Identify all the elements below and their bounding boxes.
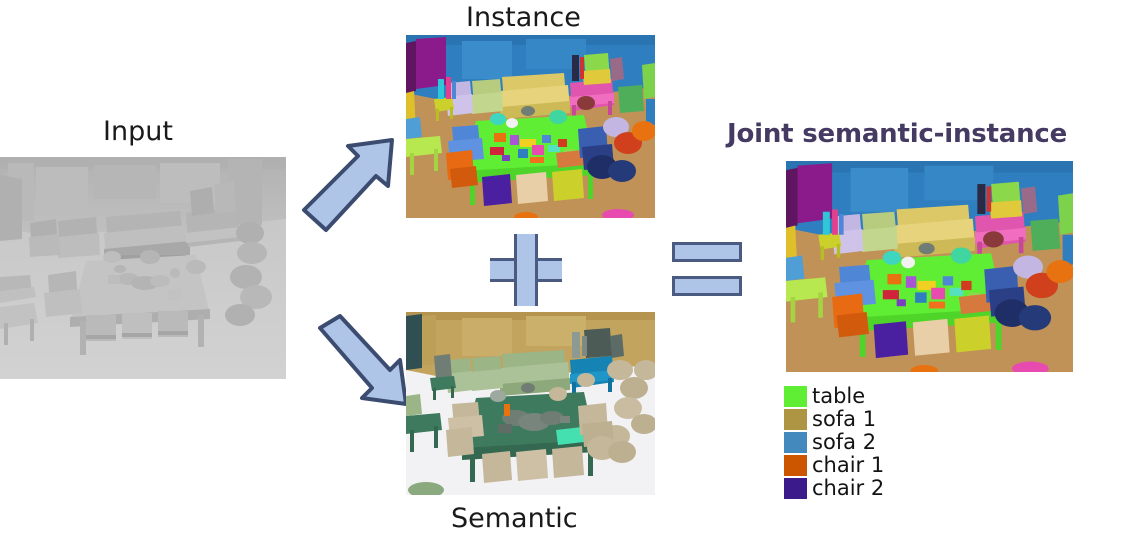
input-scan-image — [0, 157, 286, 379]
semantic-scene-svg — [406, 312, 655, 495]
legend-item-label: sofa 2 — [812, 432, 876, 453]
legend-color-swatch — [784, 478, 807, 499]
arrow-down-right-icon — [310, 312, 416, 412]
equals-sign — [672, 242, 742, 297]
semantic-segmentation-image — [406, 312, 655, 495]
equals-top-bar — [672, 242, 742, 262]
legend-item: chair 1 — [784, 454, 884, 477]
legend-color-swatch — [784, 409, 807, 430]
legend-item-label: chair 1 — [812, 455, 884, 476]
legend-item-label: sofa 1 — [812, 409, 876, 430]
label-instance: Instance — [466, 4, 581, 31]
plus-sign — [490, 234, 562, 306]
arrow-up-right-icon — [292, 134, 404, 238]
legend-item-label: chair 2 — [812, 478, 884, 499]
input-scene-svg — [0, 157, 286, 379]
equals-bottom-bar — [672, 276, 742, 296]
instance-segmentation-image — [406, 35, 655, 218]
joint-scene-svg — [786, 161, 1073, 372]
legend-item: sofa 2 — [784, 431, 884, 454]
plus-center-fill — [517, 261, 535, 279]
class-legend: table sofa 1 sofa 2 chair 1 chair 2 — [784, 385, 884, 500]
legend-color-swatch — [784, 386, 807, 407]
legend-item: chair 2 — [784, 477, 884, 500]
label-semantic: Semantic — [451, 505, 578, 532]
legend-item-label: table — [812, 386, 865, 407]
legend-item: sofa 1 — [784, 408, 884, 431]
instance-scene-svg — [406, 35, 655, 218]
legend-color-swatch — [784, 455, 807, 476]
legend-color-swatch — [784, 432, 807, 453]
joint-result-title: Joint semantic-instance — [727, 121, 1067, 147]
label-input: Input — [103, 118, 173, 145]
joint-result-image — [786, 161, 1073, 372]
legend-item: table — [784, 385, 884, 408]
